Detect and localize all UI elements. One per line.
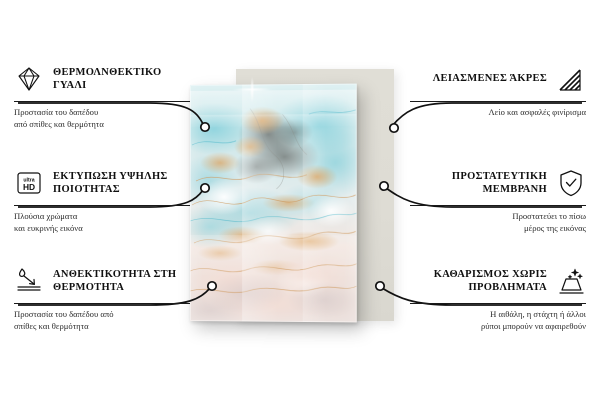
feature-subtitle: Η αιθάλη, η στάχτη ή άλλοιρύποι μπορούν … xyxy=(410,308,586,333)
feature-divider xyxy=(14,101,190,102)
feature-header: ΚΑΘΑΡΙΣΜΟΣ ΧΩΡΙΣ ΠΡΟΒΛΗΜΑΤΑ xyxy=(410,264,586,298)
feature-divider xyxy=(410,303,586,304)
shield-check-icon xyxy=(556,168,586,198)
callout-dot-left-1 xyxy=(201,123,209,131)
feature-header: ultra HD ΕΚΤΥΠΩΣΗ ΥΨΗΛΗΣ ΠΟΙΟΤΗΤΑΣ xyxy=(14,166,190,200)
sparkle-clean-icon xyxy=(556,266,586,296)
svg-text:HD: HD xyxy=(23,182,35,192)
feature-title: ΠΡΟΣΤΑΤΕΥΤΙΚΗ ΜΕΜΒΡΑΝΗ xyxy=(410,170,547,197)
callout-dot-right-2 xyxy=(380,182,388,190)
feature-header: ΑΝΘΕΚΤΙΚΟΤΗΤΑ ΣΤΗ ΘΕΡΜΟΤΗΤΑ xyxy=(14,264,190,298)
callout-dot-left-2 xyxy=(201,184,209,192)
feature-title: ΑΝΘΕΚΤΙΚΟΤΗΤΑ ΣΤΗ ΘΕΡΜΟΤΗΤΑ xyxy=(53,268,190,295)
feature-right-1: ΛΕΙΑΣΜΕΝΕΣ ΆΚΡΕΣ Λείο και ασφαλές φινίρι… xyxy=(410,62,586,118)
feature-subtitle: Λείο και ασφαλές φινίρισμα xyxy=(410,106,586,118)
feature-right-3: ΚΑΘΑΡΙΣΜΟΣ ΧΩΡΙΣ ΠΡΟΒΛΗΜΑΤΑ Η αιθάλη, η … xyxy=(410,264,586,333)
feature-divider xyxy=(410,205,586,206)
feature-divider xyxy=(410,101,586,102)
feature-subtitle: Προστασία του δαπέδου απόσπίθες και θερμ… xyxy=(14,308,190,333)
feature-left-2: ultra HD ΕΚΤΥΠΩΣΗ ΥΨΗΛΗΣ ΠΟΙΟΤΗΤΑΣ Πλούσ… xyxy=(14,166,190,235)
feature-divider xyxy=(14,205,190,206)
feature-header: ΠΡΟΣΤΑΤΕΥΤΙΚΗ ΜΕΜΒΡΑΝΗ xyxy=(410,166,586,200)
feature-title: ΚΑΘΑΡΙΣΜΟΣ ΧΩΡΙΣ ΠΡΟΒΛΗΜΑΤΑ xyxy=(410,268,547,295)
feature-left-1: ΘΕΡΜΟΛΝΘΕΚΤΙΚΟ ΓΥΑΛΙ Προστασία του δαπέδ… xyxy=(14,62,190,131)
callout-dot-right-3 xyxy=(376,282,384,290)
feature-title: ΕΚΤΥΠΩΣΗ ΥΨΗΛΗΣ ΠΟΙΟΤΗΤΑΣ xyxy=(53,170,190,197)
beveled-edge-icon xyxy=(556,64,586,94)
feature-title: ΘΕΡΜΟΛΝΘΕΚΤΙΚΟ ΓΥΑΛΙ xyxy=(53,66,190,93)
ultra-hd-icon: ultra HD xyxy=(14,168,44,198)
callout-dot-left-3 xyxy=(208,282,216,290)
feature-subtitle: Πλούσια χρώματακαι ευκρινής εικόνα xyxy=(14,210,190,235)
feature-divider xyxy=(14,303,190,304)
heat-resistance-icon xyxy=(14,266,44,296)
feature-subtitle: Προστατεύει το πίσωμέρος της εικόνας xyxy=(410,210,586,235)
feature-subtitle: Προστασία του δαπέδουαπό σπίθες και θερμ… xyxy=(14,106,190,131)
callout-dot-right-1 xyxy=(390,124,398,132)
feature-header: ΘΕΡΜΟΛΝΘΕΚΤΙΚΟ ΓΥΑΛΙ xyxy=(14,62,190,96)
feature-left-3: ΑΝΘΕΚΤΙΚΟΤΗΤΑ ΣΤΗ ΘΕΡΜΟΤΗΤΑ Προστασία το… xyxy=(14,264,190,333)
feature-header: ΛΕΙΑΣΜΕΝΕΣ ΆΚΡΕΣ xyxy=(410,62,586,96)
feature-right-2: ΠΡΟΣΤΑΤΕΥΤΙΚΗ ΜΕΜΒΡΑΝΗ Προστατεύει το πί… xyxy=(410,166,586,235)
feature-title: ΛΕΙΑΣΜΕΝΕΣ ΆΚΡΕΣ xyxy=(410,72,547,85)
diamond-icon xyxy=(14,64,44,94)
infographic-stage: ΘΕΡΜΟΛΝΘΕΚΤΙΚΟ ΓΥΑΛΙ Προστασία του δαπέδ… xyxy=(0,0,600,400)
